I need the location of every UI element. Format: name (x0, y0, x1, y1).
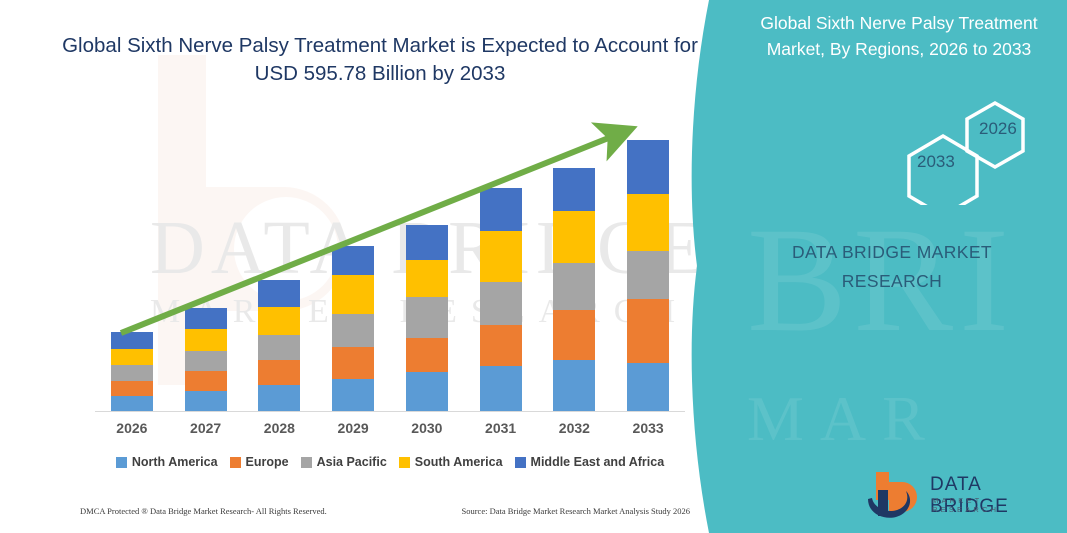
dbmr-mark-icon (862, 468, 932, 524)
x-axis-label-2026: 2026 (102, 420, 162, 436)
x-axis-label-2031: 2031 (471, 420, 531, 436)
bar-2031 (480, 188, 522, 412)
bar-segment-asia-pacific (258, 335, 300, 360)
logo-tagline: MARKET RESEARCH (932, 496, 1052, 514)
x-axis-label-2033: 2033 (618, 420, 678, 436)
svg-text:MAR: MAR (747, 383, 941, 454)
bar-2033 (627, 140, 669, 412)
chart-legend: North AmericaEuropeAsia PacificSouth Ame… (95, 455, 685, 469)
bar-segment-middle-east-and-africa (406, 225, 448, 260)
bar-segment-north-america (185, 391, 227, 412)
legend-item-asia-pacific[interactable]: Asia Pacific (301, 455, 387, 469)
bar-2028 (258, 280, 300, 412)
legend-swatch-icon (116, 457, 127, 468)
legend-swatch-icon (399, 457, 410, 468)
bar-segment-north-america (406, 372, 448, 412)
footer: DMCA Protected ® Data Bridge Market Rese… (80, 506, 690, 516)
bar-segment-europe (553, 310, 595, 360)
bar-segment-middle-east-and-africa (258, 280, 300, 307)
bar-segment-south-america (111, 349, 153, 366)
bar-2030 (406, 225, 448, 412)
bar-segment-europe (111, 381, 153, 397)
bar-segment-europe (406, 338, 448, 372)
legend-label: Europe (246, 455, 289, 469)
bar-segment-asia-pacific (406, 297, 448, 338)
bar-segment-asia-pacific (627, 251, 669, 299)
legend-swatch-icon (515, 457, 526, 468)
legend-label: Asia Pacific (317, 455, 387, 469)
bar-2032 (553, 168, 595, 412)
bar-segment-europe (480, 325, 522, 367)
bar-segment-asia-pacific (111, 365, 153, 381)
bar-segment-asia-pacific (480, 282, 522, 325)
bar-segment-north-america (332, 379, 374, 412)
x-axis-label-2030: 2030 (397, 420, 457, 436)
bar-segment-europe (627, 299, 669, 364)
x-axis-label-2029: 2029 (323, 420, 383, 436)
panel-brand-line-2: RESEARCH (742, 267, 1042, 296)
bar-segment-north-america (258, 385, 300, 412)
right-panel: BRI MAR Global Sixth Nerve Palsy Treatme… (687, 0, 1067, 533)
legend-swatch-icon (301, 457, 312, 468)
bar-segment-south-america (480, 231, 522, 282)
bar-segment-north-america (627, 363, 669, 412)
x-axis-line (95, 411, 685, 412)
legend-label: North America (132, 455, 218, 469)
bar-segment-north-america (480, 366, 522, 412)
hexagon-2026-label: 2026 (979, 119, 1017, 139)
bar-2027 (185, 308, 227, 412)
x-axis-label-2028: 2028 (249, 420, 309, 436)
stacked-bar-chart (95, 110, 685, 412)
panel-brand-line-1: DATA BRIDGE MARKET (742, 238, 1042, 267)
panel-title: Global Sixth Nerve Palsy Treatment Marke… (739, 10, 1059, 62)
infographic-slide: DATA BRIDGE MARKET RESEARCH Global Sixth… (0, 0, 1067, 533)
x-axis-label-2027: 2027 (176, 420, 236, 436)
bar-segment-europe (332, 347, 374, 378)
bar-segment-south-america (553, 211, 595, 263)
legend-item-europe[interactable]: Europe (230, 455, 289, 469)
legend-item-middle-east-and-africa[interactable]: Middle East and Africa (515, 455, 665, 469)
bar-segment-south-america (185, 329, 227, 351)
bar-2026 (111, 332, 153, 412)
legend-item-north-america[interactable]: North America (116, 455, 218, 469)
bar-segment-europe (185, 371, 227, 391)
bar-segment-south-america (258, 307, 300, 335)
bar-segment-south-america (406, 260, 448, 297)
legend-item-south-america[interactable]: South America (399, 455, 503, 469)
bar-segment-north-america (553, 360, 595, 412)
hexagon-2033-label: 2033 (917, 152, 955, 172)
bar-segment-europe (258, 360, 300, 385)
bar-segment-asia-pacific (553, 263, 595, 310)
x-axis-labels: 20262027202820292030203120322033 (95, 420, 685, 442)
bar-segment-south-america (627, 194, 669, 250)
bar-segment-middle-east-and-africa (185, 308, 227, 329)
company-logo: DATA BRIDGE MARKET RESEARCH (862, 468, 1052, 524)
legend-swatch-icon (230, 457, 241, 468)
legend-label: Middle East and Africa (531, 455, 665, 469)
bar-segment-asia-pacific (185, 351, 227, 372)
footer-source: Source: Data Bridge Market Research Mark… (461, 506, 690, 516)
legend-label: South America (415, 455, 503, 469)
hexagon-group: 2026 2033 (807, 95, 1067, 205)
panel-brand: DATA BRIDGE MARKET RESEARCH (742, 238, 1042, 296)
bar-segment-middle-east-and-africa (553, 168, 595, 211)
chart-title: Global Sixth Nerve Palsy Treatment Marke… (60, 32, 700, 88)
bar-segment-middle-east-and-africa (627, 140, 669, 194)
bar-2029 (332, 246, 374, 412)
footer-copyright: DMCA Protected ® Data Bridge Market Rese… (80, 506, 327, 516)
bar-segment-north-america (111, 396, 153, 412)
x-axis-label-2032: 2032 (544, 420, 604, 436)
bar-segment-middle-east-and-africa (111, 332, 153, 349)
bar-segment-south-america (332, 275, 374, 315)
bar-segment-middle-east-and-africa (332, 246, 374, 274)
bar-segment-middle-east-and-africa (480, 188, 522, 231)
bar-segment-asia-pacific (332, 314, 374, 347)
